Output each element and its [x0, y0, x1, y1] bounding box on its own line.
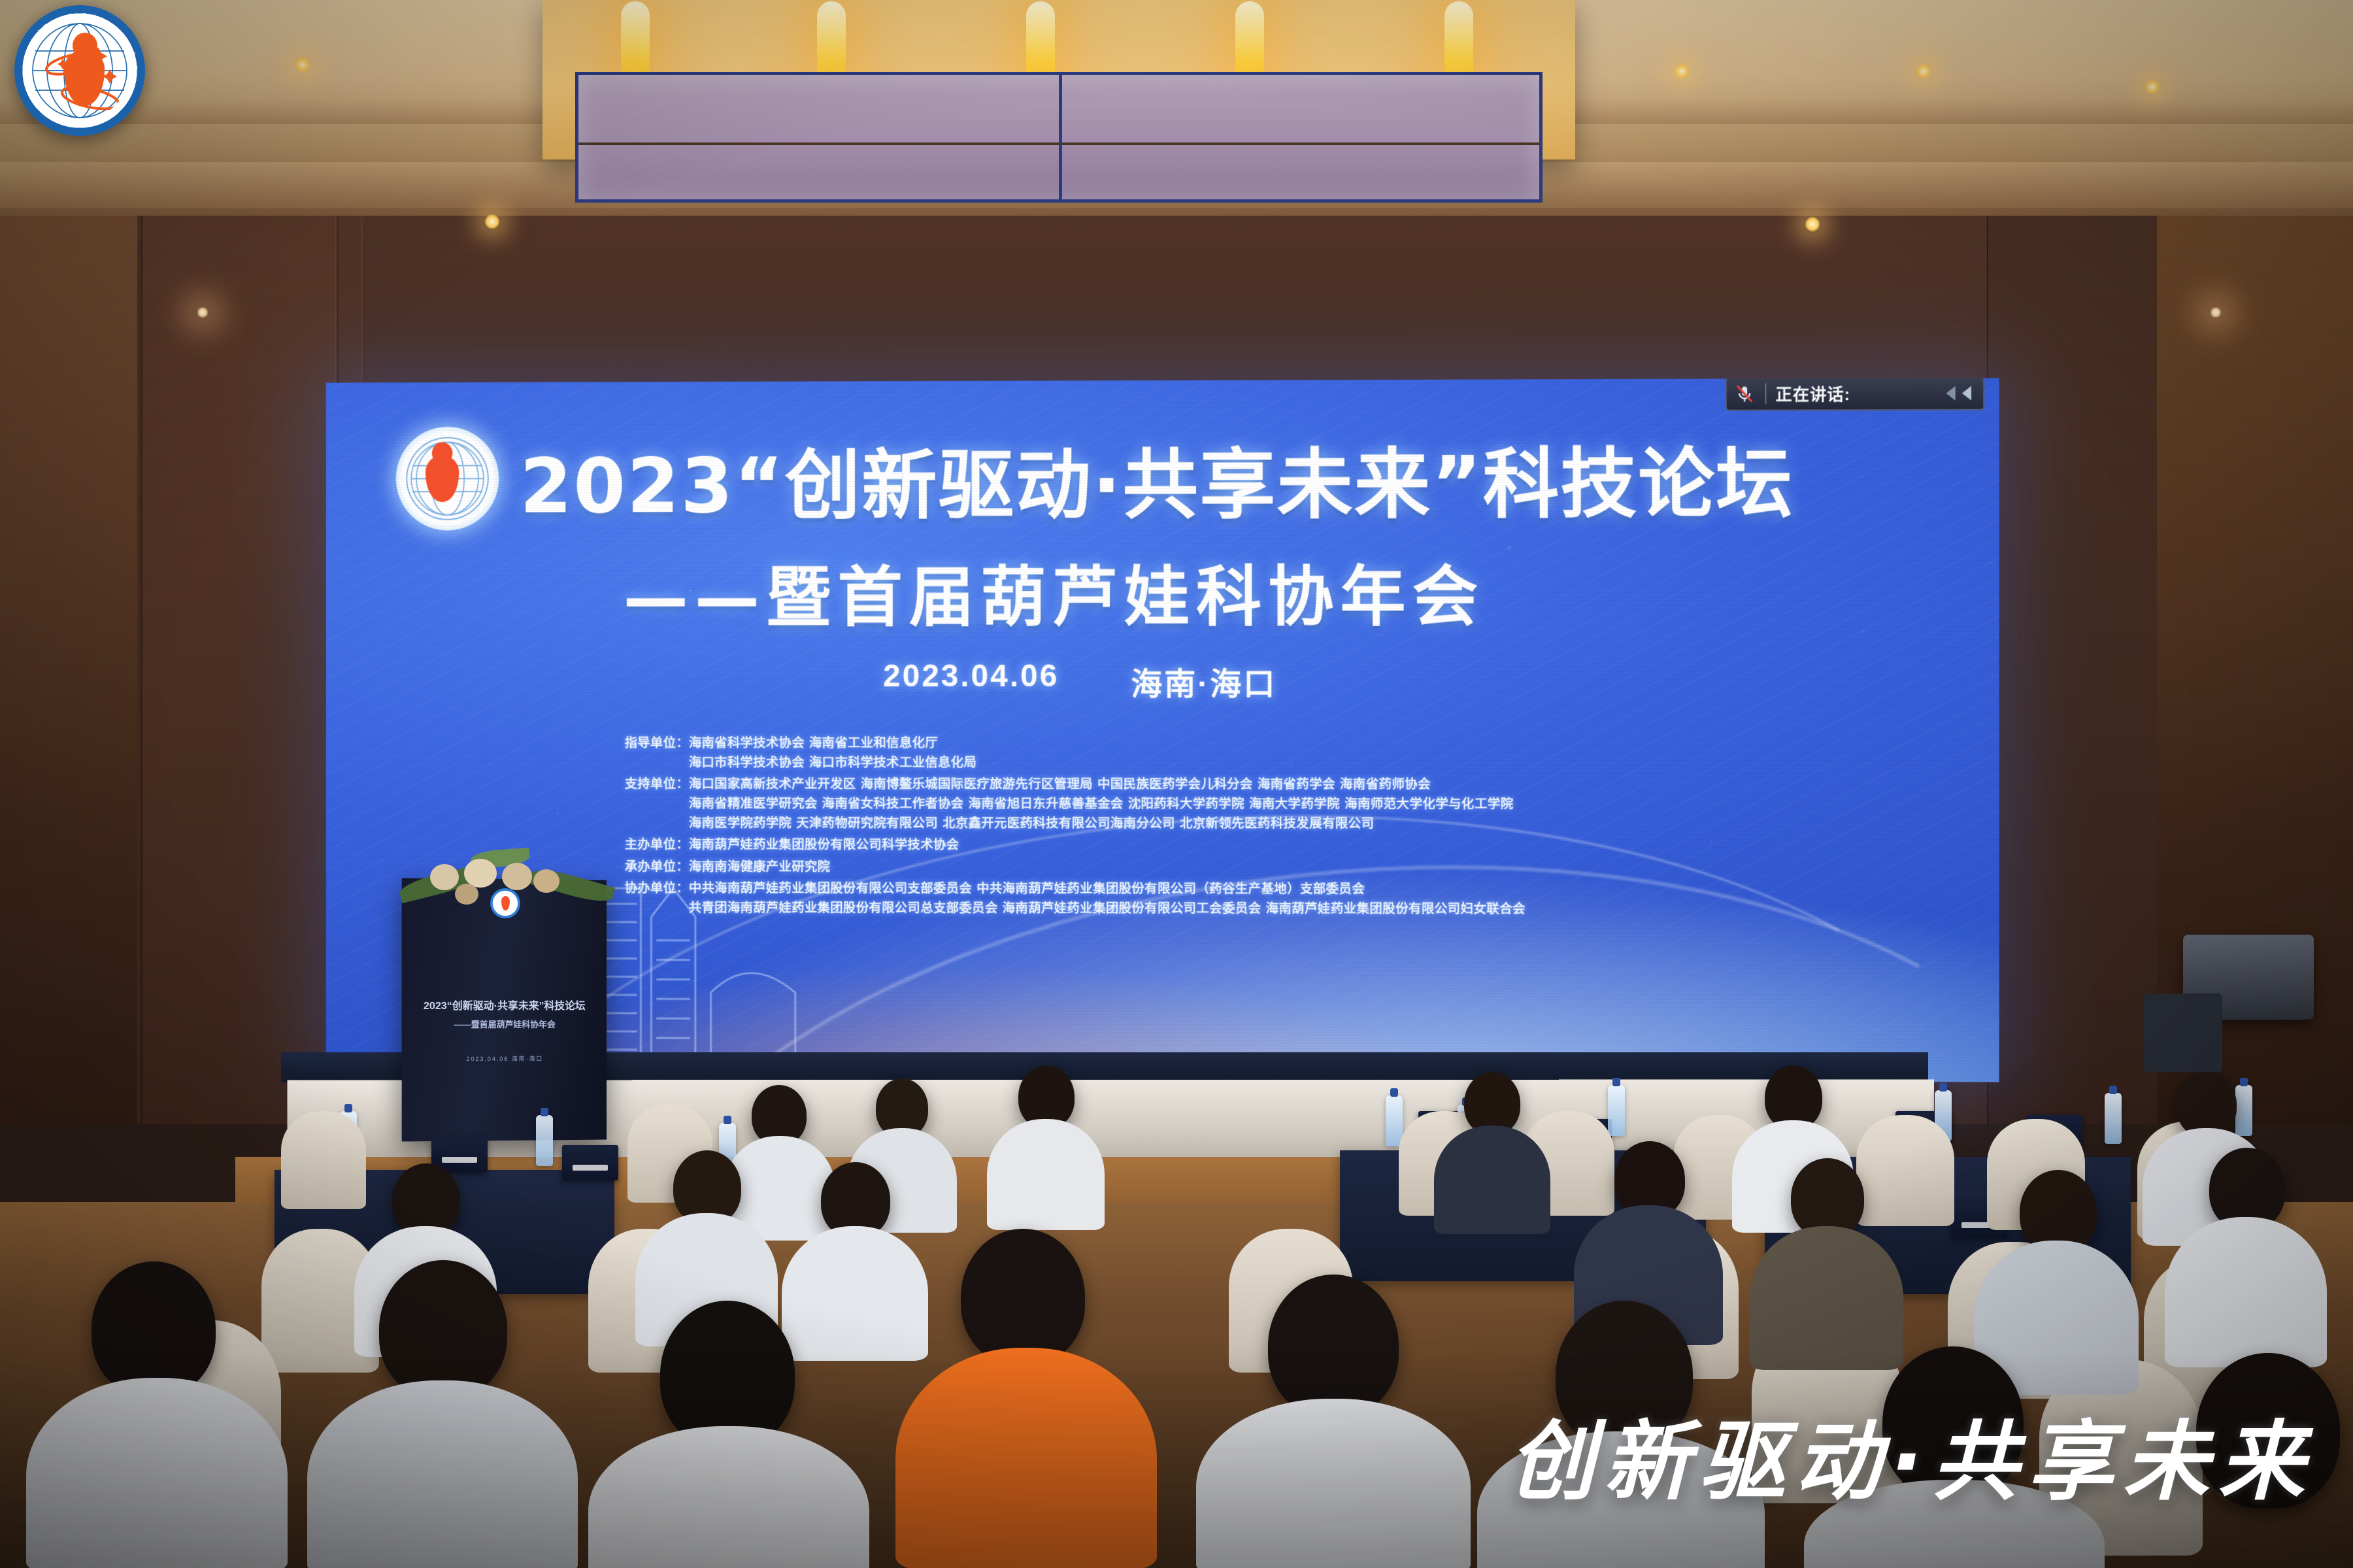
flower-arrangement [392, 837, 621, 915]
podium-meta: 2023.04.06 海南·海口 [402, 1054, 607, 1063]
speaker-podium: 2023“创新驱动·共享未来”科技论坛 ——暨首届葫芦娃科协年会 2023.04… [402, 878, 607, 1141]
audience-member [782, 1226, 928, 1361]
name-placard [562, 1145, 618, 1180]
ceiling-downlight-icon [1915, 63, 1932, 80]
globe-icon [30, 21, 129, 120]
wall-panel [141, 196, 337, 1124]
audience-member [987, 1119, 1105, 1230]
wall-slat-panel [1987, 216, 2157, 1124]
wall-sconce-icon [2209, 307, 2222, 318]
podium-subtitle: ——暨首届葫芦娃科协年会 [402, 1018, 607, 1030]
water-bottle [1386, 1095, 1403, 1146]
ceiling-downlight-icon [1804, 216, 1821, 233]
brand-logo-watermark: Hainan Huluwa Pharmaceutical Group Co.,L… [14, 5, 145, 136]
ceiling-downlight-icon [2144, 78, 2161, 95]
flower-icon [502, 863, 532, 890]
ceiling-downlight-icon [1673, 63, 1690, 80]
wall-sconce-icon [196, 307, 209, 318]
flower-icon [430, 864, 459, 890]
flower-icon [455, 884, 478, 905]
water-bottle [536, 1115, 553, 1166]
water-bottle [2105, 1093, 2122, 1144]
ceiling-downlight-icon [484, 213, 501, 230]
ceiling-soffit-panel [575, 72, 1543, 203]
water-bottle [2235, 1085, 2252, 1136]
wall-column-left [0, 98, 137, 1124]
podium-title: 2023“创新驱动·共享未来”科技论坛 [402, 997, 607, 1012]
flower-icon [533, 869, 559, 893]
audience-member [2165, 1217, 2327, 1367]
audience-member [961, 1229, 1085, 1365]
calligraphy-watermark: 创新驱动·共享未来 [1509, 1392, 2314, 1517]
chair [281, 1111, 366, 1209]
ceiling-downlight-icon [294, 56, 311, 73]
audience-member [2177, 1072, 2237, 1137]
conference-hall-photo: 2023“创新驱动·共享未来”科技论坛 ——暨首届葫芦娃科协年会 2023.04… [0, 0, 2353, 1568]
chair [1856, 1115, 1954, 1226]
audience-member [1434, 1126, 1550, 1234]
camera-equipment [2144, 993, 2222, 1072]
water-bottle [1608, 1085, 1625, 1136]
audience-member [1749, 1226, 1903, 1370]
